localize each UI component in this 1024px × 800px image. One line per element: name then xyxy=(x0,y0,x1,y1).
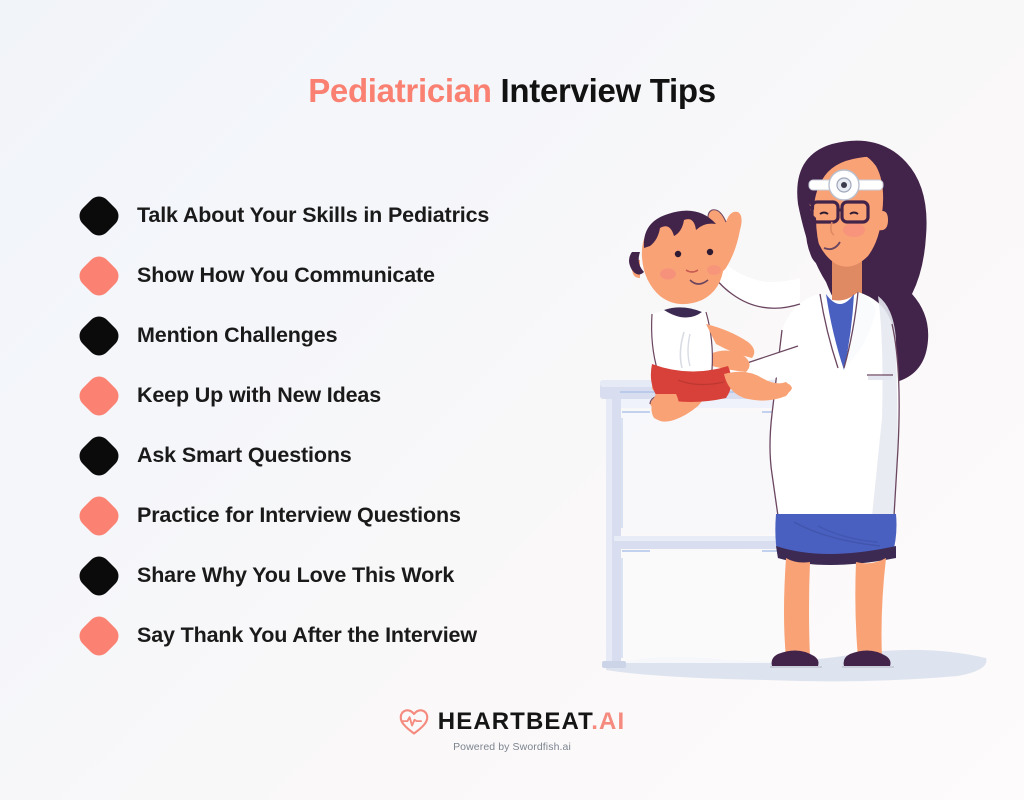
list-item-label: Keep Up with New Ideas xyxy=(137,385,381,407)
list-item: Ask Smart Questions xyxy=(82,426,642,486)
tips-list: Talk About Your Skills in Pediatrics Sho… xyxy=(82,186,642,666)
diamond-bullet-icon xyxy=(75,432,123,480)
list-item-label: Share Why You Love This Work xyxy=(137,565,454,587)
heartbeat-pulse-icon xyxy=(399,708,429,736)
list-item: Share Why You Love This Work xyxy=(82,546,642,606)
diamond-bullet-icon xyxy=(75,252,123,300)
diamond-bullet-icon xyxy=(75,372,123,420)
brand-logo-word-dark: HEARTBEAT xyxy=(438,708,591,735)
list-item: Say Thank You After the Interview xyxy=(82,606,642,666)
diamond-bullet-icon xyxy=(75,312,123,360)
poster-canvas: Pediatrician Interview Tips Talk About Y… xyxy=(0,0,1024,800)
list-item: Mention Challenges xyxy=(82,306,642,366)
diamond-bullet-icon xyxy=(75,612,123,660)
list-item-label: Ask Smart Questions xyxy=(137,445,352,467)
list-item: Talk About Your Skills in Pediatrics xyxy=(82,186,642,246)
diamond-bullet-icon xyxy=(75,192,123,240)
page-title-accent-word: Pediatrician xyxy=(308,72,491,109)
brand-logo-word-accent: .AI xyxy=(591,708,625,735)
brand-logo-main: HEARTBEAT.AI xyxy=(399,708,625,736)
list-item-label: Mention Challenges xyxy=(137,325,337,347)
pediatrician-examining-baby-illustration xyxy=(586,118,1006,688)
list-item-label: Show How You Communicate xyxy=(137,265,435,287)
page-title-rest: Interview Tips xyxy=(492,72,716,109)
list-item: Show How You Communicate xyxy=(82,246,642,306)
list-item-label: Say Thank You After the Interview xyxy=(137,625,477,647)
page-title: Pediatrician Interview Tips xyxy=(0,72,1024,110)
diamond-bullet-icon xyxy=(75,492,123,540)
list-item-label: Talk About Your Skills in Pediatrics xyxy=(137,205,489,227)
list-item: Practice for Interview Questions xyxy=(82,486,642,546)
list-item-label: Practice for Interview Questions xyxy=(137,505,461,527)
list-item: Keep Up with New Ideas xyxy=(82,366,642,426)
baby-figure-illustration-part xyxy=(629,211,792,421)
brand-logo-wordmark: HEARTBEAT.AI xyxy=(438,710,625,734)
brand-logo: HEARTBEAT.AI Powered by Swordfish.ai xyxy=(0,708,1024,753)
brand-logo-tagline: Powered by Swordfish.ai xyxy=(453,741,571,753)
diamond-bullet-icon xyxy=(75,552,123,600)
